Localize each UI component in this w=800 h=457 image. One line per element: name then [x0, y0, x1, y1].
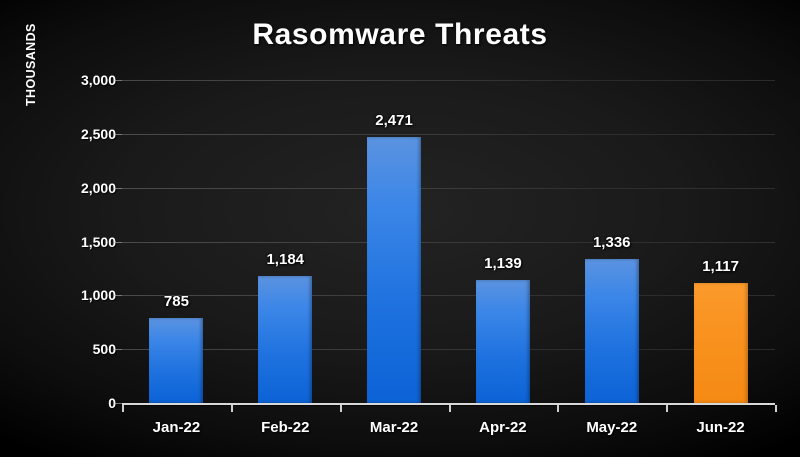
y-axis-tick-mark	[114, 349, 122, 350]
bar-may-22[interactable]	[585, 259, 639, 403]
y-axis-tick-label: 0	[56, 395, 116, 411]
x-axis-tick-label-mar-22: Mar-22	[334, 419, 454, 436]
y-axis-tick-label: 1,500	[56, 234, 116, 250]
y-axis-tick-mark	[114, 403, 122, 404]
x-axis-tick-mark	[122, 405, 124, 412]
data-label-feb-22: 1,184	[235, 251, 335, 268]
x-axis-tick-label-feb-22: Feb-22	[225, 419, 345, 436]
data-label-jun-22: 1,117	[671, 258, 771, 275]
y-axis-tick-mark	[114, 134, 122, 135]
y-axis-tick-label: 2,000	[56, 180, 116, 196]
x-axis-tick-label-jan-22: Jan-22	[116, 419, 236, 436]
y-axis-tick-mark	[114, 188, 122, 189]
x-axis-tick-mark	[449, 405, 451, 412]
data-label-jan-22: 785	[126, 293, 226, 310]
x-axis-tick-mark	[775, 405, 777, 412]
gridline	[122, 242, 775, 243]
data-label-may-22: 1,336	[562, 234, 662, 251]
bar-jan-22[interactable]	[149, 318, 203, 403]
y-axis-tick-label: 2,500	[56, 126, 116, 142]
chart-title: Rasomware Threats	[0, 18, 800, 52]
plot-area: 7851,1842,4711,1391,3361,117	[122, 80, 775, 403]
x-axis-tick-mark	[666, 405, 668, 412]
data-label-mar-22: 2,471	[344, 112, 444, 129]
x-axis-tick-mark	[340, 405, 342, 412]
y-axis-title: THOUSANDS	[24, 0, 40, 106]
x-axis-tick-mark	[557, 405, 559, 412]
x-axis-tick-mark	[231, 405, 233, 412]
gridline	[122, 134, 775, 135]
bar-mar-22[interactable]	[367, 137, 421, 403]
y-axis-tick-mark	[114, 295, 122, 296]
y-axis-tick-mark	[114, 80, 122, 81]
y-axis-tick-labels: 05001,0001,5002,0002,5003,000	[50, 80, 116, 403]
data-label-apr-22: 1,139	[453, 255, 553, 272]
gridline	[122, 188, 775, 189]
x-axis-tick-label-apr-22: Apr-22	[443, 419, 563, 436]
bar-apr-22[interactable]	[476, 280, 530, 403]
x-axis-tick-label-may-22: May-22	[552, 419, 672, 436]
x-axis-tick-label-jun-22: Jun-22	[661, 419, 781, 436]
bar-feb-22[interactable]	[258, 276, 312, 403]
y-axis-tick-label: 500	[56, 341, 116, 357]
y-axis-tick-label: 1,000	[56, 287, 116, 303]
gridline	[122, 80, 775, 81]
ransomware-threats-bar-chart: Rasomware Threats THOUSANDS 7851,1842,47…	[0, 0, 800, 457]
bar-jun-22[interactable]	[694, 283, 748, 403]
gridline	[122, 349, 775, 350]
y-axis-tick-mark	[114, 242, 122, 243]
y-axis-tick-label: 3,000	[56, 72, 116, 88]
